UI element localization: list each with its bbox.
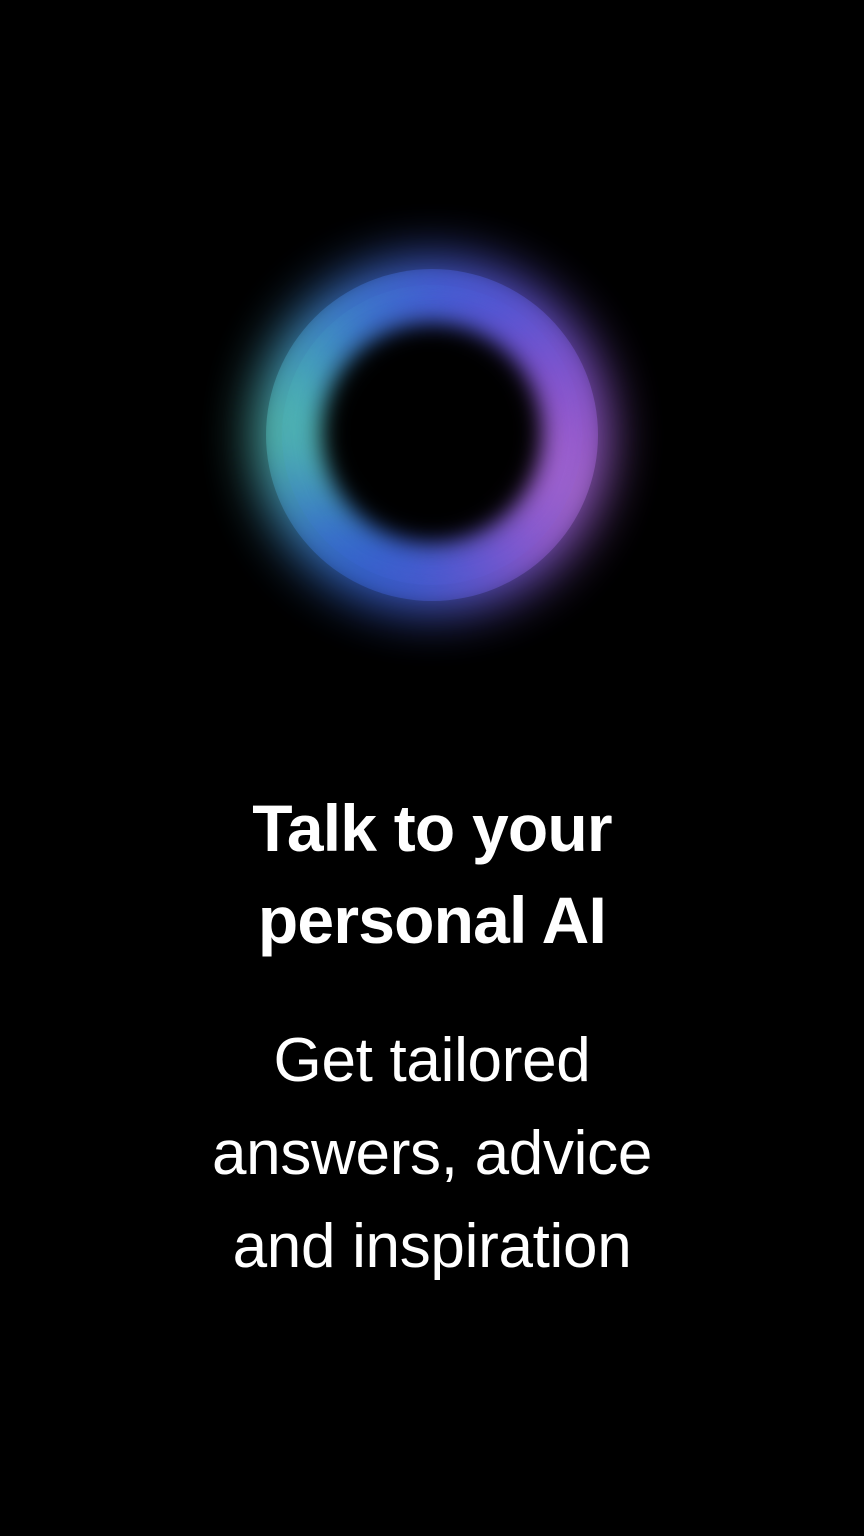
page-subtitle: Get tailored answers, advice and inspira…: [122, 1014, 742, 1293]
gradient-orb-icon: [260, 263, 604, 607]
orb-inner-wisp: [282, 285, 582, 585]
intro-copy: Talk to your personal AI Get tailored an…: [0, 782, 864, 1293]
orb-gradient-ring: [266, 269, 598, 601]
orb-dark-core: [321, 322, 543, 544]
hero-orb-stage: [0, 0, 864, 780]
page-title: Talk to your personal AI: [132, 782, 732, 966]
orb-outer-glow: [256, 259, 608, 611]
onboarding-screen: Talk to your personal AI Get tailored an…: [0, 0, 864, 1536]
